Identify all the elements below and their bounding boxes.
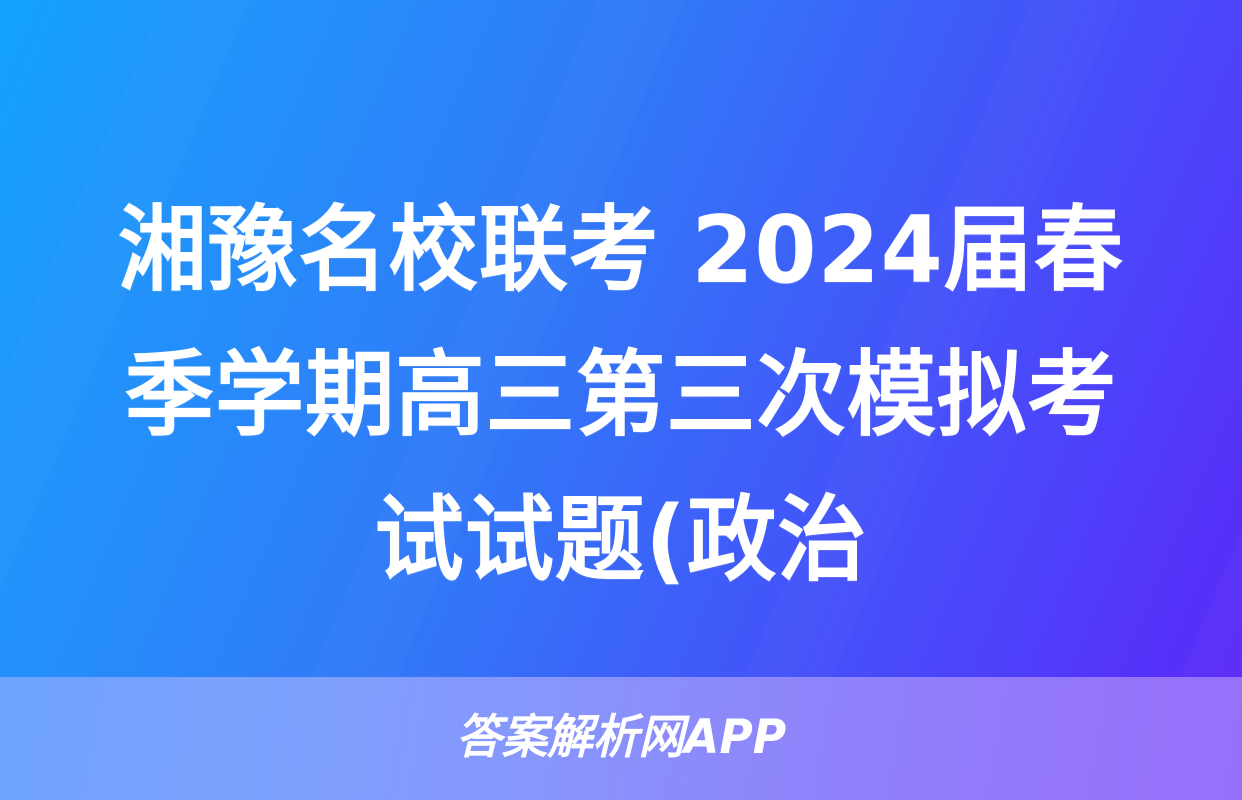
watermark-band: 答案解析网APP (0, 677, 1242, 800)
exam-cover-card: 湘豫名校联考 2024届春 季学期高三第三次模拟考 试试题(政治 答案解析网AP… (0, 0, 1242, 800)
page-title-line-2: 季学期高三第三次模拟考 (25, 323, 1217, 468)
page-title-line-3: 试试题(政治 (25, 468, 1217, 613)
hero-gradient-background: 湘豫名校联考 2024届春 季学期高三第三次模拟考 试试题(政治 (0, 0, 1242, 677)
page-title-line-1: 湘豫名校联考 2024届春 (25, 178, 1217, 323)
page-title: 湘豫名校联考 2024届春 季学期高三第三次模拟考 试试题(政治 (0, 178, 1242, 613)
app-watermark-label: 答案解析网APP (456, 714, 786, 761)
